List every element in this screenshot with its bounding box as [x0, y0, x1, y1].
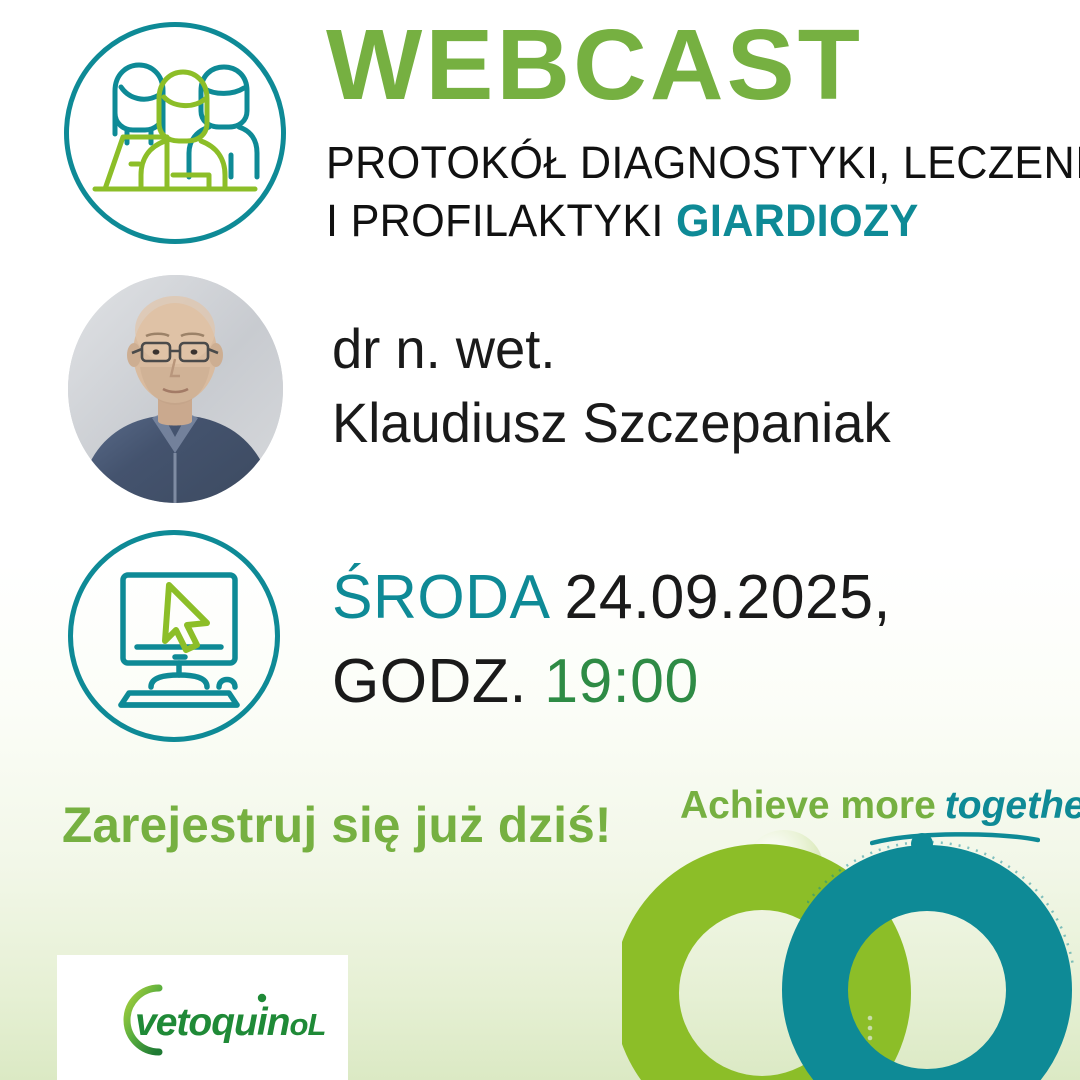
event-time: 19:00	[544, 647, 699, 716]
vetoquinol-dot	[258, 994, 266, 1002]
speaker-portrait-image	[68, 275, 283, 503]
tagline-underline-swoosh	[870, 830, 1040, 848]
page-title: WEBCAST	[326, 14, 1071, 116]
people-at-laptop-icon	[64, 22, 286, 244]
headline-block: WEBCAST PROTOKÓŁ DIAGNOSTYKI, LECZENIA I…	[326, 14, 1056, 249]
subtitle-prefix: I PROFILAKTYKI	[326, 195, 676, 246]
event-time-line: GODZ. 19:00	[332, 640, 1018, 724]
brand-tagline: Achieve moretogether	[680, 786, 1040, 856]
event-day-label: ŚRODA	[332, 563, 547, 632]
vetoquinol-logo: vetoquinoL	[102, 975, 342, 1065]
cursor-arrow-icon	[165, 585, 207, 650]
tagline-part-2: together	[945, 784, 1080, 827]
webcast-poster: WEBCAST PROTOKÓŁ DIAGNOSTYKI, LECZENIA I…	[0, 0, 1080, 1080]
subtitle-line-2: I PROFILAKTYKI GIARDIOZY	[326, 192, 1027, 250]
speaker-text-block: dr n. wet. Klaudiusz Szczepaniak	[332, 312, 1032, 460]
speaker-title: dr n. wet.	[332, 312, 1011, 386]
monitor-cursor-icon-glyph	[73, 535, 285, 747]
subtitle-line-1: PROTOKÓŁ DIAGNOSTYKI, LECZENIA	[326, 134, 1027, 192]
people-at-laptop-icon-glyph	[69, 27, 291, 249]
event-hour-label: GODZ.	[332, 647, 527, 716]
vetoquinol-wordmark: vetoquinoL	[135, 1001, 325, 1044]
brand-tagline-row: Achieve moretogether	[680, 786, 1040, 825]
register-cta-text[interactable]: Zarejestruj się już dziś!	[62, 796, 612, 854]
event-datetime-block: ŚRODA 24.09.2025, GODZ. 19:00	[332, 556, 1032, 725]
speaker-name: Klaudiusz Szczepaniak	[332, 386, 1011, 460]
event-date-line: ŚRODA 24.09.2025,	[332, 556, 1018, 640]
brand-logo-card: vetoquinoL	[57, 955, 348, 1080]
speaker-portrait	[68, 275, 283, 503]
decorative-rings	[622, 818, 1080, 1080]
subtitle-highlight: GIARDIOZY	[676, 195, 919, 246]
tagline-part-1: Achieve more	[680, 784, 936, 827]
event-date: 24.09.2025,	[565, 563, 891, 632]
monitor-cursor-icon	[68, 530, 280, 742]
